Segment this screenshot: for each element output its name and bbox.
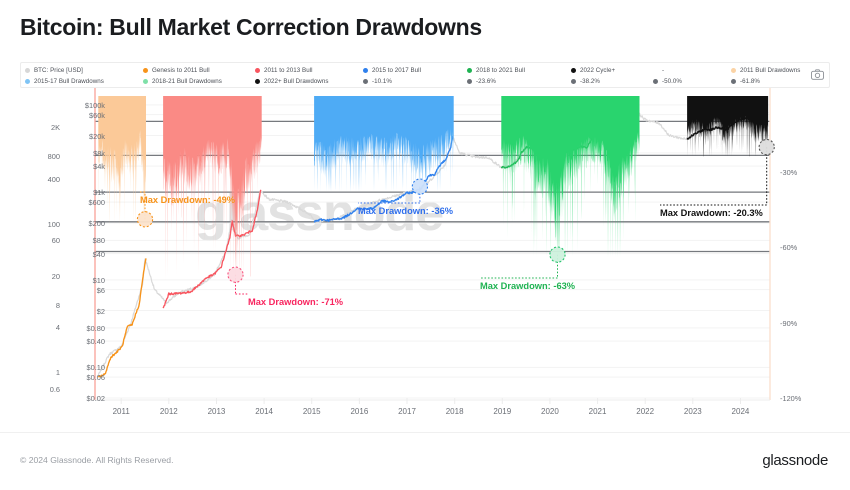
y-axis-price-tick: $0.02 [67, 394, 105, 403]
page-title: Bitcoin: Bull Market Correction Drawdown… [20, 14, 482, 41]
y-axis-ratio-tick: 20 [28, 272, 60, 281]
brand-logo: glassnode [762, 452, 828, 469]
y-axis-drawdown-tick: -90% [780, 319, 820, 328]
legend-color-dot [571, 79, 576, 84]
y-axis-price-tick: $20k [67, 132, 105, 141]
legend-items: BTC: Price [USD]2015-17 Bull DrawdownsGe… [25, 65, 805, 87]
x-axis-tick: 2022 [625, 407, 665, 416]
legend-item-label: -38.2% [580, 78, 600, 85]
camera-icon[interactable] [811, 69, 824, 80]
legend-item[interactable]: 2011 to 2013 Bull [255, 67, 363, 74]
legend-color-dot [143, 68, 148, 73]
legend-item-label: -10.1% [372, 78, 392, 85]
legend-item-label: 2022+ Bull Drawdowns [264, 78, 328, 85]
y-axis-price-tick: $40 [67, 250, 105, 259]
legend-color-dot [143, 79, 148, 84]
legend-item-label: -23.6% [476, 78, 496, 85]
legend-item[interactable]: -10.1% [363, 78, 467, 85]
y-axis-price-tick: $8k [67, 149, 105, 158]
x-axis-tick: 2020 [530, 407, 570, 416]
legend-item[interactable]: 2018-21 Bull Drawdowns [143, 78, 255, 85]
y-axis-price-tick: $2 [67, 307, 105, 316]
legend-item[interactable]: 2022 Cycle+ [571, 67, 653, 74]
legend-item-label: -50.0% [662, 78, 682, 85]
legend-item[interactable]: -23.6% [467, 78, 571, 85]
y-axis-price-tick: $0.80 [67, 324, 105, 333]
y-axis-ratio-tick: 60 [28, 236, 60, 245]
legend-item-label: - [662, 67, 664, 74]
max-drawdown-annotation: Max Drawdown: -36% [358, 206, 453, 216]
max-drawdown-annotation: Max Drawdown: -71% [248, 297, 343, 307]
y-axis-ratio-tick: 100 [28, 220, 60, 229]
chart-legend: BTC: Price [USD]2015-17 Bull DrawdownsGe… [20, 62, 830, 88]
legend-color-dot [653, 68, 658, 73]
legend-color-dot [571, 68, 576, 73]
y-axis-price-tick: $4k [67, 162, 105, 171]
legend-color-dot [363, 68, 368, 73]
legend-item-label: 2011 to 2013 Bull [264, 67, 313, 74]
max-drawdown-annotation: Max Drawdown: -63% [480, 281, 575, 291]
y-axis-price-tick: $60k [67, 111, 105, 120]
legend-color-dot [255, 68, 260, 73]
y-axis-price-tick: $600 [67, 198, 105, 207]
y-axis-drawdown-tick: -30% [780, 168, 820, 177]
y-axis-price-tick: $0.40 [67, 337, 105, 346]
plot-annotations [20, 88, 830, 406]
x-axis-tick: 2023 [673, 407, 713, 416]
x-axis-tick: 2018 [435, 407, 475, 416]
y-axis-ratio-tick: 800 [28, 152, 60, 161]
legend-color-dot [731, 68, 736, 73]
y-axis-price-tick: $1k [67, 188, 105, 197]
x-axis-tick: 2019 [482, 407, 522, 416]
legend-item-label: 2015 to 2017 Bull [372, 67, 421, 74]
plot-area: glassnode [20, 88, 830, 406]
legend-color-dot [653, 79, 658, 84]
max-drawdown-annotation: Max Drawdown: -49% [140, 195, 235, 205]
y-axis-price-tick: $10 [67, 276, 105, 285]
legend-color-dot [363, 79, 368, 84]
y-axis-price-tick: $0.10 [67, 363, 105, 372]
legend-item-label: 2015-17 Bull Drawdowns [34, 78, 104, 85]
y-axis-ratio-tick: 400 [28, 175, 60, 184]
x-axis-tick: 2012 [149, 407, 189, 416]
y-axis-price-tick: $100k [67, 101, 105, 110]
legend-item[interactable]: 2018 to 2021 Bull [467, 67, 571, 74]
max-drawdown-annotation: Max Drawdown: -20.3% [660, 208, 763, 218]
legend-item[interactable]: -50.0% [653, 78, 731, 85]
legend-color-dot [25, 79, 30, 84]
x-axis-tick: 2011 [101, 407, 141, 416]
x-axis-tick: 2021 [578, 407, 618, 416]
legend-item-label: Genesis to 2011 Bull [152, 67, 210, 74]
legend-color-dot [467, 68, 472, 73]
legend-item[interactable]: BTC: Price [USD] [25, 67, 143, 74]
y-axis-drawdown-tick: -120% [780, 394, 820, 403]
y-axis-ratio-tick: 1 [28, 368, 60, 377]
legend-item-label: 2011 Bull Drawdowns [740, 67, 800, 74]
copyright-text: © 2024 Glassnode. All Rights Reserved. [20, 455, 173, 465]
legend-item[interactable]: 2015-17 Bull Drawdowns [25, 78, 143, 85]
x-axis-tick: 2015 [292, 407, 332, 416]
legend-color-dot [25, 68, 30, 73]
x-axis-tick: 2014 [244, 407, 284, 416]
legend-item[interactable]: Genesis to 2011 Bull [143, 67, 255, 74]
y-axis-ratio-tick: 2K [28, 123, 60, 132]
legend-color-dot [731, 79, 736, 84]
legend-item-label: 2022 Cycle+ [580, 67, 615, 74]
y-axis-price-tick: $6 [67, 286, 105, 295]
y-axis-price-tick: $80 [67, 236, 105, 245]
legend-item-label: -61.8% [740, 78, 760, 85]
legend-color-dot [255, 79, 260, 84]
legend-item[interactable]: 2022+ Bull Drawdowns [255, 78, 363, 85]
legend-item-label: BTC: Price [USD] [34, 67, 83, 74]
y-axis-drawdown-tick: -60% [780, 243, 820, 252]
legend-item-label: 2018-21 Bull Drawdowns [152, 78, 222, 85]
legend-item[interactable]: -38.2% [571, 78, 653, 85]
y-axis-ratio-tick: 0.6 [28, 385, 60, 394]
x-axis-tick: 2024 [720, 407, 760, 416]
y-axis-ratio-tick: 4 [28, 323, 60, 332]
x-axis-tick: 2017 [387, 407, 427, 416]
legend-item-label: 2018 to 2021 Bull [476, 67, 525, 74]
y-axis-price-tick: $200 [67, 219, 105, 228]
x-axis-tick: 2013 [196, 407, 236, 416]
footer-divider [0, 432, 850, 433]
legend-color-dot [467, 79, 472, 84]
y-axis-ratio-tick: 8 [28, 301, 60, 310]
chart-card: Bitcoin: Bull Market Correction Drawdown… [0, 0, 850, 490]
x-axis-tick: 2016 [339, 407, 379, 416]
y-axis-price-tick: $0.06 [67, 373, 105, 382]
legend-item[interactable]: - [653, 67, 731, 74]
legend-item[interactable]: 2015 to 2017 Bull [363, 67, 467, 74]
